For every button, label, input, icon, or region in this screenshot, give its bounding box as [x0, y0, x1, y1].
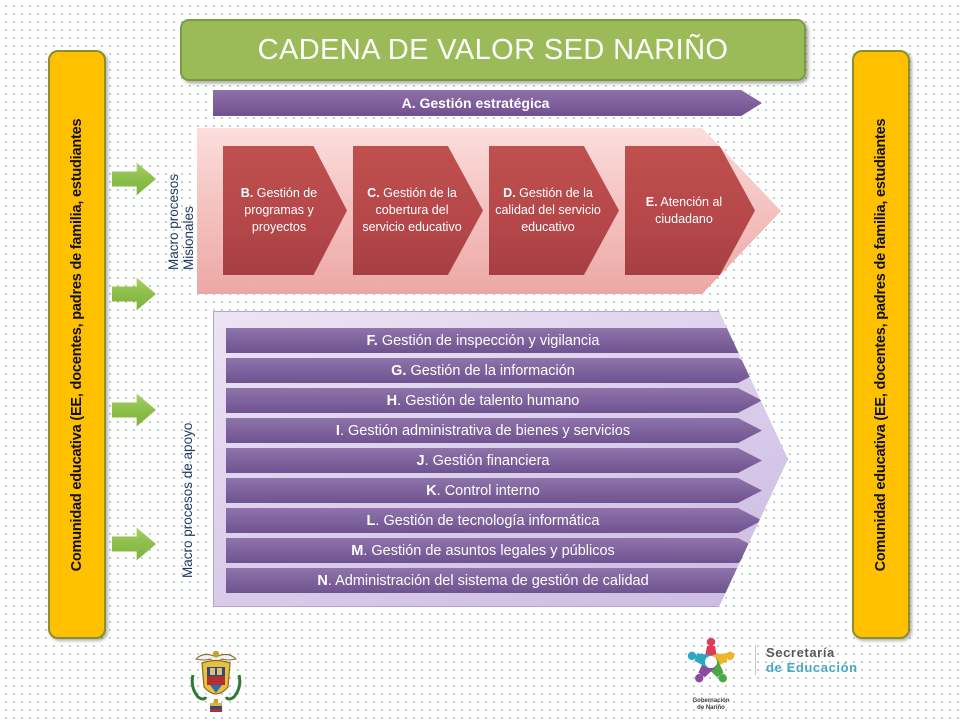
misional-c-letter: C.	[367, 186, 380, 200]
secretaria-educacion-logo: Secretaría de Educación	[755, 645, 858, 675]
gobernacion-narino-logo: Gobernación de Nariño	[675, 634, 747, 710]
support-j-letter: J	[416, 453, 424, 469]
misional-d-letter: D.	[503, 186, 516, 200]
misional-chevron-group: B. Gestión de programas y proyectos C. G…	[197, 128, 781, 294]
support-bar-i[interactable]: I. Gestión administrativa de bienes y se…	[226, 418, 762, 443]
strategic-process-bar[interactable]: A. Gestión estratégica	[213, 90, 762, 116]
support-processes-container: F. Gestión de inspección y vigilancia G.…	[213, 311, 788, 607]
colombia-coat-of-arms-icon	[188, 641, 244, 713]
misional-chevron-b[interactable]: B. Gestión de programas y proyectos	[223, 146, 347, 275]
misional-chevron-e[interactable]: E. Atención al ciudadano	[625, 146, 755, 275]
misional-processes-container: B. Gestión de programas y proyectos C. G…	[197, 128, 781, 294]
support-bar-h[interactable]: H. Gestión de talento humano	[226, 388, 762, 413]
green-arrow-icon-3	[112, 393, 156, 427]
secretaria-line-1: Secretaría	[766, 645, 858, 660]
green-arrow-icon-4	[112, 527, 156, 561]
support-j-text: . Gestión financiera	[425, 453, 550, 469]
support-f-letter: F.	[367, 333, 378, 349]
support-bar-k[interactable]: K. Control interno	[226, 478, 762, 503]
support-bar-n[interactable]: N. Administración del sistema de gestión…	[226, 568, 762, 593]
support-bar-j[interactable]: J. Gestión financiera	[226, 448, 762, 473]
support-k-letter: K	[426, 483, 436, 499]
support-h-letter: H	[387, 393, 397, 409]
gobernacion-caption-line1: Gobernación	[675, 698, 747, 705]
sidebar-left-label: Comunidad educativa (EE, docentes, padre…	[69, 118, 85, 571]
support-f-text: Gestión de inspección y vigilancia	[378, 333, 600, 349]
support-bar-g[interactable]: G. Gestión de la información	[226, 358, 762, 383]
support-i-text: . Gestión administrativa de bienes y ser…	[340, 423, 630, 439]
macro-apoyo-label: Macro procesos de apoyo	[180, 423, 195, 578]
misional-b-text: Gestión de programas y proyectos	[244, 186, 317, 234]
support-m-letter: M	[351, 543, 363, 559]
support-n-text: . Administración del sistema de gestión …	[328, 573, 649, 589]
gobernacion-caption: Gobernación de Nariño	[675, 698, 747, 712]
green-arrow-icon-1	[112, 162, 156, 196]
strategic-process-label: A. Gestión estratégica	[402, 95, 550, 111]
support-k-text: . Control interno	[437, 483, 540, 499]
macro-misionales-label: Macro procesos Misionales	[166, 174, 196, 270]
sidebar-left-community: Comunidad educativa (EE, docentes, padre…	[48, 50, 106, 639]
misional-e-letter: E.	[646, 195, 658, 209]
page-title: CADENA DE VALOR SED NARIÑO	[258, 34, 729, 67]
support-bar-f[interactable]: F. Gestión de inspección y vigilancia	[226, 328, 762, 353]
support-l-text: . Gestión de tecnología informática	[375, 513, 599, 529]
page-title-banner: CADENA DE VALOR SED NARIÑO	[180, 19, 806, 81]
secretaria-line-2: de Educación	[766, 660, 858, 675]
slide-canvas: Comunidad educativa (EE, docentes, padre…	[0, 0, 960, 720]
support-bar-m[interactable]: M. Gestión de asuntos legales y públicos	[226, 538, 762, 563]
misional-chevron-d[interactable]: D. Gestión de la calidad del servicio ed…	[489, 146, 619, 275]
narino-star-figures-icon	[675, 634, 747, 692]
misional-e-text: Atención al ciudadano	[655, 195, 722, 226]
sidebar-right-label: Comunidad educativa (EE, docentes, padre…	[873, 118, 889, 571]
support-g-letter: G.	[391, 363, 406, 379]
misional-chevron-c[interactable]: C. Gestión de la cobertura del servicio …	[353, 146, 483, 275]
support-m-text: . Gestión de asuntos legales y públicos	[363, 543, 614, 559]
green-arrow-icon-2	[112, 277, 156, 311]
gobernacion-caption-line2: de Nariño	[675, 705, 747, 712]
support-g-text: Gestión de la información	[406, 363, 574, 379]
support-h-text: . Gestión de talento humano	[397, 393, 579, 409]
misional-b-letter: B.	[241, 186, 254, 200]
support-bar-l[interactable]: L. Gestión de tecnología informática	[226, 508, 762, 533]
macro-misionales-line2: Misionales	[181, 206, 196, 270]
macro-misionales-line1: Macro procesos	[166, 174, 181, 270]
support-n-letter: N	[317, 573, 327, 589]
sidebar-right-community: Comunidad educativa (EE, docentes, padre…	[852, 50, 910, 639]
